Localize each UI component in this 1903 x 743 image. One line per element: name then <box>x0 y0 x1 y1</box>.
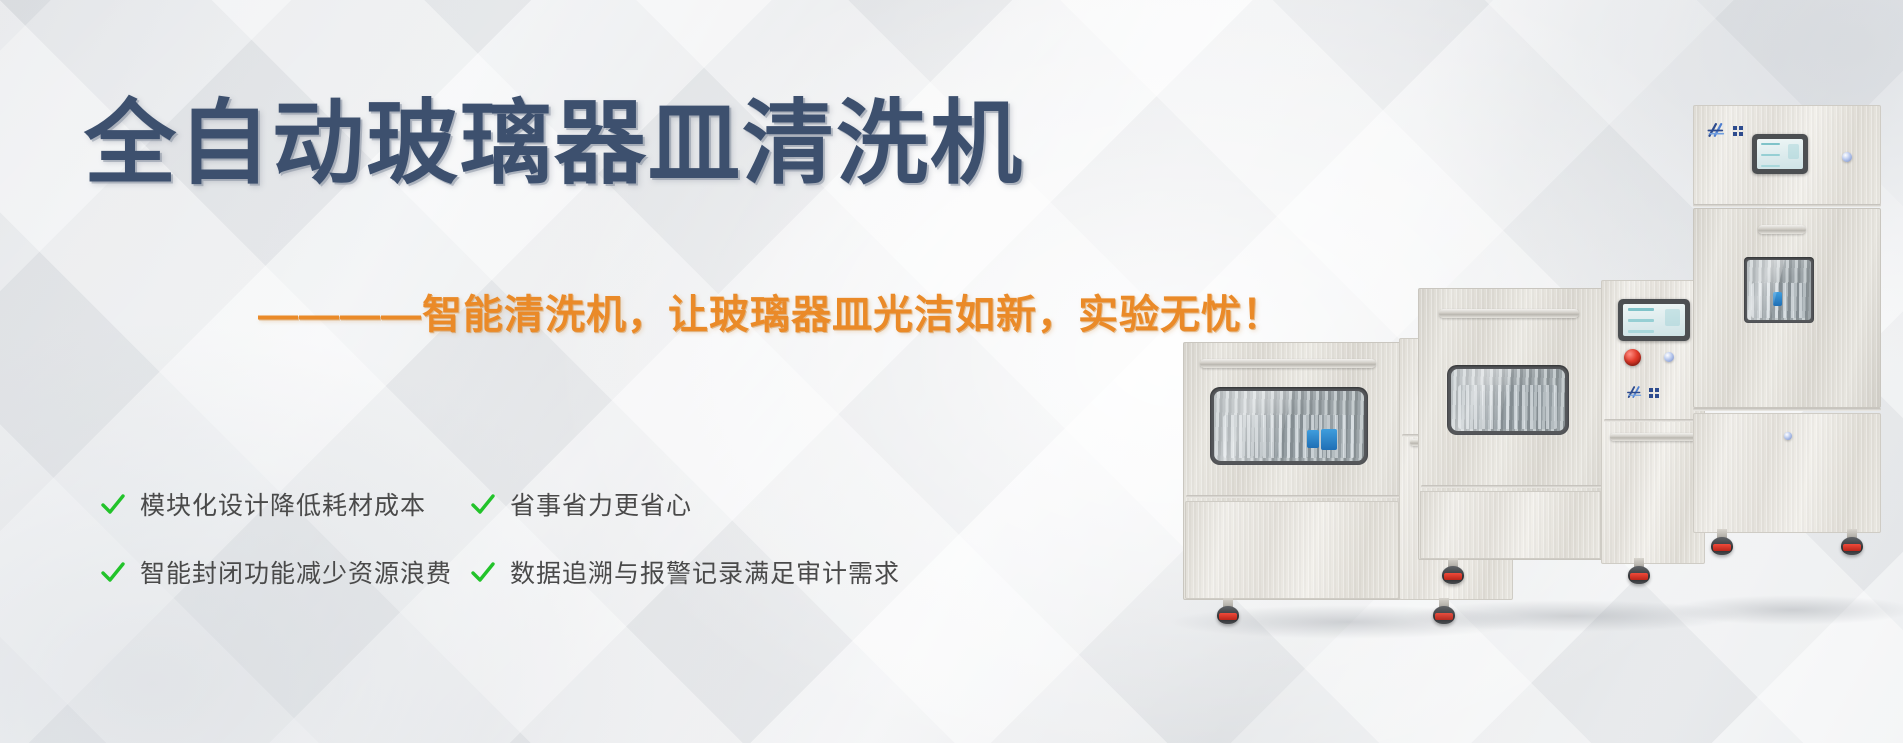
access-panel-handle[interactable] <box>1610 433 1696 441</box>
check-icon <box>100 559 126 585</box>
hmi-touchscreen[interactable] <box>1752 134 1808 174</box>
caster-wheel <box>1442 558 1464 584</box>
feature-item-1: 模块化设计降低耗材成本 <box>100 486 470 522</box>
feature-label: 模块化设计降低耗材成本 <box>140 486 426 522</box>
feature-item-2: 省事省力更省心 <box>470 486 890 522</box>
feature-label: 智能封闭功能减少资源浪费 <box>140 554 452 590</box>
feature-label: 数据追溯与报警记录满足审计需求 <box>510 554 900 590</box>
brand-logo <box>1626 385 1659 400</box>
chamber-window <box>1744 257 1814 323</box>
feature-item-4: 数据追溯与报警记录满足审计需求 <box>470 554 890 590</box>
product-tall-cabinet-washer <box>1693 105 1893 610</box>
feature-item-3: 智能封闭功能减少资源浪费 <box>100 554 470 590</box>
caster-wheel <box>1711 529 1733 555</box>
chamber-window <box>1210 387 1368 465</box>
status-indicator[interactable] <box>1664 352 1674 362</box>
check-icon <box>470 491 496 517</box>
caster-wheel <box>1628 558 1650 584</box>
status-indicator[interactable] <box>1842 152 1852 162</box>
door-handle[interactable] <box>1200 359 1376 368</box>
door-handle[interactable] <box>1439 309 1579 318</box>
door-handle[interactable] <box>1758 225 1806 234</box>
feature-label: 省事省力更省心 <box>510 486 692 522</box>
caster-wheel <box>1841 529 1863 555</box>
hmi-touchscreen[interactable] <box>1618 299 1690 341</box>
caster-wheel <box>1217 598 1239 624</box>
banner-copy: 全自动玻璃器皿清洗机 ————智能清洗机，让玻璃器皿光洁如新，实验无忧！ 模块化… <box>0 0 1100 743</box>
check-icon <box>100 491 126 517</box>
chamber-window <box>1447 365 1569 435</box>
banner-headline: 全自动玻璃器皿清洗机 <box>84 95 1024 194</box>
feature-list: 模块化设计降低耗材成本 省事省力更省心 智能封闭功能减少资源浪费 数据追溯与报警… <box>100 470 890 606</box>
brand-logo <box>1706 122 1743 139</box>
emergency-stop-button[interactable] <box>1624 349 1641 366</box>
product-image-group <box>1083 0 1903 743</box>
product-freestanding-washer <box>1418 270 1723 610</box>
product-hero-banner: 全自动玻璃器皿清洗机 ————智能清洗机，让玻璃器皿光洁如新，实验无忧！ 模块化… <box>0 0 1903 743</box>
check-icon <box>470 559 496 585</box>
service-latch[interactable] <box>1784 432 1792 440</box>
